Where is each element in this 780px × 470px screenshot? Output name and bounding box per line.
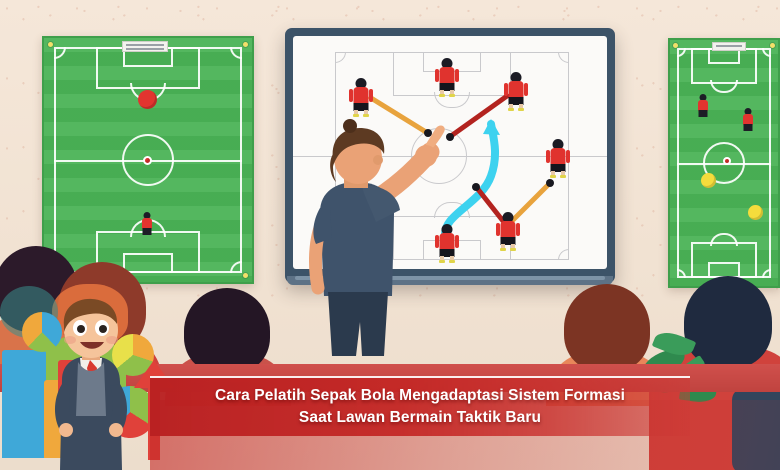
title-banner: Cara Pelatih Sepak Bola Mengadaptasi Sis…	[150, 376, 690, 436]
banner-title-line-1: Cara Pelatih Sepak Bola Mengadaptasi Sis…	[150, 385, 690, 407]
poster-token-player-left	[140, 212, 154, 236]
player-torso	[354, 87, 369, 104]
poster-pin-tr-right	[770, 43, 775, 48]
player-boot-left	[353, 114, 359, 117]
coach-fist	[415, 145, 437, 167]
player-boot-right	[449, 94, 455, 97]
wb-player-2	[350, 78, 372, 116]
businessman-mascot	[0, 290, 175, 470]
coach-ear	[373, 155, 383, 165]
arrow-run-topright	[451, 96, 507, 136]
audience-hair	[184, 288, 270, 374]
poster-pin-tr-left	[243, 42, 248, 47]
poster-pin-br-left	[243, 273, 248, 278]
player-boot-right	[518, 108, 524, 111]
player-torso	[509, 81, 524, 98]
player-arm-left	[435, 235, 439, 248]
poster-label-line	[716, 45, 742, 47]
player-arm-right	[566, 150, 570, 163]
poster-label-right	[712, 42, 746, 51]
arrow-run-topright-tail	[446, 133, 454, 141]
mascot-cheek-right	[106, 336, 118, 344]
poster-token-player-right-1	[696, 94, 710, 120]
poster-pin-tl-left	[48, 42, 53, 47]
player-torso	[501, 221, 516, 238]
mascot-bar-blue	[2, 350, 46, 458]
mascot-pupil-left	[77, 325, 85, 333]
player-boot-right	[510, 248, 516, 251]
pitch-poster-right	[668, 38, 780, 288]
poster-token-marker-left	[138, 90, 157, 109]
mascot-hand-left	[59, 423, 73, 437]
poster-label-line	[126, 44, 164, 46]
coach-presenter	[300, 126, 432, 356]
poster-pin-tl-right	[673, 43, 678, 48]
player-arm-right	[455, 69, 459, 82]
player-boot-left	[439, 260, 445, 263]
banner-title-line-2: Saat Lawan Bermain Taktik Baru	[150, 407, 690, 429]
poster-token-marker-right-1	[701, 173, 716, 188]
player-boot-right	[449, 260, 455, 263]
player-boot-left	[439, 94, 445, 97]
arrow-run-bottom-head	[472, 183, 480, 191]
player-arm-left	[435, 69, 439, 82]
player-arm-right	[516, 223, 520, 236]
wb-player-1	[436, 58, 458, 96]
player-arm-left	[496, 223, 500, 236]
arrow-pass-bottom-head	[546, 179, 554, 187]
arrow-movement-curve-head	[483, 119, 500, 135]
wb-player-4	[547, 139, 569, 177]
poster-label-line	[126, 48, 164, 50]
player-boot-left	[550, 175, 556, 178]
player-torso	[551, 148, 566, 165]
player-boot-left	[508, 108, 514, 111]
player-arm-left	[504, 83, 508, 96]
poster-token-player-right-2	[741, 108, 755, 134]
wb-player-3	[505, 72, 527, 110]
poster-token-ball-right	[723, 157, 731, 165]
poster-token-legs	[699, 110, 708, 117]
player-arm-left	[546, 150, 550, 163]
wb-player-6	[497, 212, 519, 250]
player-torso	[440, 233, 455, 250]
arrow-movement-curve	[445, 124, 495, 236]
coach-sleeve-left	[313, 208, 332, 244]
poster-token-legs	[143, 228, 152, 235]
coach-trousers	[328, 292, 388, 356]
mascot-figure	[42, 304, 146, 470]
poster-token-legs	[744, 124, 753, 131]
player-torso	[440, 67, 455, 84]
poster-token-ball-left	[143, 156, 152, 165]
player-arm-right	[524, 83, 528, 96]
player-boot-right	[363, 114, 369, 117]
player-boot-left	[500, 248, 506, 251]
screenshot-canvas: Cara Pelatih Sepak Bola Mengadaptasi Sis…	[0, 0, 780, 470]
poster-label-left	[122, 41, 168, 52]
mascot-pupil-right	[99, 325, 107, 333]
coach-hair-bun	[343, 119, 357, 133]
player-arm-right	[369, 89, 373, 102]
player-arm-right	[455, 235, 459, 248]
poster-token-marker-right-2	[748, 205, 763, 220]
wb-player-5	[436, 224, 458, 262]
player-boot-right	[560, 175, 566, 178]
mascot-hand-right	[109, 423, 123, 437]
mascot-cheek-left	[64, 336, 76, 344]
player-arm-left	[349, 89, 353, 102]
banner-text-block: Cara Pelatih Sepak Bola Mengadaptasi Sis…	[150, 385, 690, 429]
